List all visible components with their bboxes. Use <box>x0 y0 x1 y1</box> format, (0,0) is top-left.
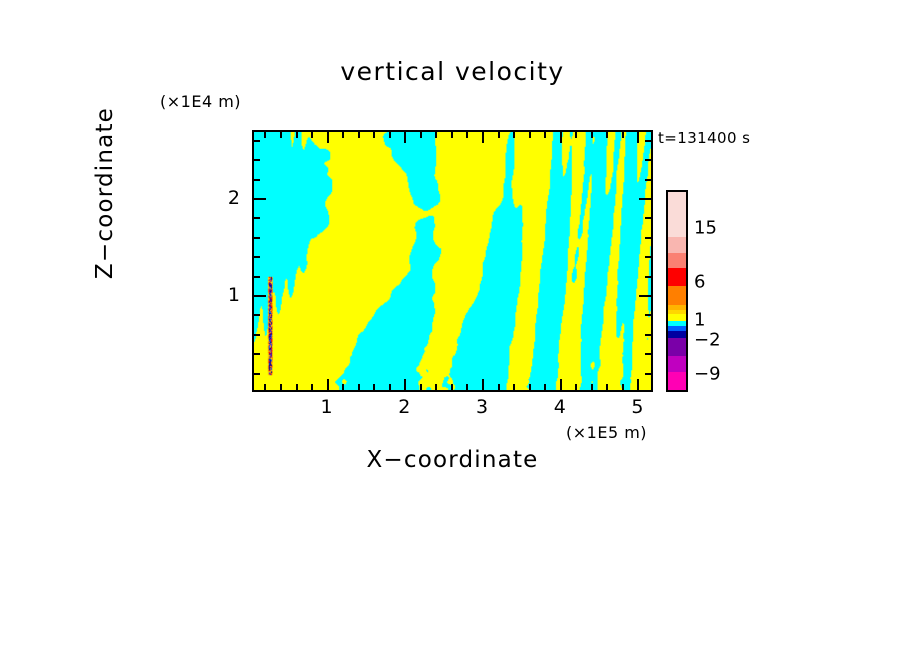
tick-mark <box>280 132 282 138</box>
tick-mark <box>327 132 329 143</box>
colorbar-tick-label: 6 <box>694 272 705 293</box>
tick-mark <box>498 384 500 390</box>
colorbar-band <box>668 253 686 269</box>
tick-mark <box>591 384 593 390</box>
tick-mark <box>254 198 266 200</box>
velocity-field-heatmap <box>254 132 651 390</box>
tick-mark <box>591 132 593 138</box>
tick-mark <box>373 384 375 390</box>
tick-mark <box>311 384 313 390</box>
tick-mark <box>544 132 546 138</box>
colorbar-band <box>668 268 686 286</box>
tick-mark <box>645 334 651 336</box>
tick-mark <box>575 384 577 390</box>
tick-mark <box>254 334 260 336</box>
tick-mark <box>466 384 468 390</box>
tick-mark <box>639 295 651 297</box>
tick-mark <box>544 384 546 390</box>
colorbar-band <box>668 286 686 305</box>
colorbar-tick-label: 15 <box>694 218 717 239</box>
tick-mark <box>373 132 375 138</box>
colorbar-tick-label: −9 <box>694 364 721 385</box>
page-title: vertical velocity <box>252 57 653 86</box>
tick-mark <box>389 384 391 390</box>
colorbar-tick-label: 1 <box>694 310 705 331</box>
colorbar <box>666 190 688 392</box>
tick-mark <box>639 198 651 200</box>
tick-mark <box>254 353 260 355</box>
tick-mark <box>622 384 624 390</box>
y-axis-scale-label: (×1E4 m) <box>160 92 241 111</box>
x-axis-title: X−coordinate <box>252 447 653 473</box>
tick-mark <box>254 159 260 161</box>
tick-mark <box>645 140 651 142</box>
tick-mark <box>342 384 344 390</box>
tick-mark <box>254 237 260 239</box>
tick-mark <box>637 379 639 390</box>
figure-canvas: vertical velocity (×1E4 m) (×1E5 m) X−co… <box>0 0 904 654</box>
colorbar-band <box>668 338 686 356</box>
x-tick-label: 3 <box>476 396 488 418</box>
x-tick-label: 5 <box>631 396 643 418</box>
tick-mark <box>264 384 266 390</box>
tick-mark <box>482 132 484 143</box>
x-tick-label: 1 <box>321 396 333 418</box>
tick-mark <box>254 276 260 278</box>
timestamp-annotation: t=131400 s <box>658 129 750 147</box>
colorbar-band <box>668 331 686 338</box>
x-axis-scale-label: (×1E5 m) <box>566 423 647 442</box>
tick-mark <box>264 132 266 138</box>
tick-mark <box>404 132 406 143</box>
tick-mark <box>254 314 260 316</box>
tick-mark <box>466 132 468 138</box>
colorbar-band <box>668 314 686 321</box>
tick-mark <box>254 256 260 258</box>
tick-mark <box>498 132 500 138</box>
tick-mark <box>404 379 406 390</box>
tick-mark <box>645 353 651 355</box>
tick-mark <box>645 314 651 316</box>
tick-mark <box>389 132 391 138</box>
colorbar-tick-label: −2 <box>694 330 721 351</box>
tick-mark <box>358 132 360 138</box>
tick-mark <box>420 132 422 138</box>
tick-mark <box>645 256 651 258</box>
tick-mark <box>560 379 562 390</box>
tick-mark <box>254 295 266 297</box>
colorbar-band <box>668 356 686 373</box>
tick-mark <box>560 132 562 143</box>
tick-mark <box>254 140 260 142</box>
tick-mark <box>606 384 608 390</box>
tick-mark <box>451 384 453 390</box>
y-tick-label: 1 <box>210 284 240 306</box>
plot-area <box>252 130 653 392</box>
tick-mark <box>513 384 515 390</box>
tick-mark <box>645 373 651 375</box>
tick-mark <box>435 132 437 138</box>
tick-mark <box>280 384 282 390</box>
tick-mark <box>482 379 484 390</box>
y-axis-title: Z−coordinate <box>92 83 118 303</box>
tick-mark <box>645 276 651 278</box>
tick-mark <box>622 132 624 138</box>
tick-mark <box>420 384 422 390</box>
tick-mark <box>358 384 360 390</box>
tick-mark <box>296 132 298 138</box>
tick-mark <box>342 132 344 138</box>
tick-mark <box>575 132 577 138</box>
tick-mark <box>529 384 531 390</box>
tick-mark <box>435 384 437 390</box>
colorbar-band <box>668 372 686 390</box>
x-tick-label: 4 <box>554 396 566 418</box>
tick-mark <box>327 379 329 390</box>
tick-mark <box>254 217 260 219</box>
y-tick-label: 2 <box>210 187 240 209</box>
tick-mark <box>254 373 260 375</box>
tick-mark <box>451 132 453 138</box>
tick-mark <box>606 132 608 138</box>
colorbar-band <box>668 192 686 237</box>
tick-mark <box>645 159 651 161</box>
tick-mark <box>513 132 515 138</box>
tick-mark <box>645 217 651 219</box>
tick-mark <box>296 384 298 390</box>
tick-mark <box>645 179 651 181</box>
tick-mark <box>645 237 651 239</box>
x-tick-label: 2 <box>398 396 410 418</box>
tick-mark <box>637 132 639 143</box>
tick-mark <box>529 132 531 138</box>
colorbar-band <box>668 237 686 253</box>
tick-mark <box>311 132 313 138</box>
tick-mark <box>254 179 260 181</box>
